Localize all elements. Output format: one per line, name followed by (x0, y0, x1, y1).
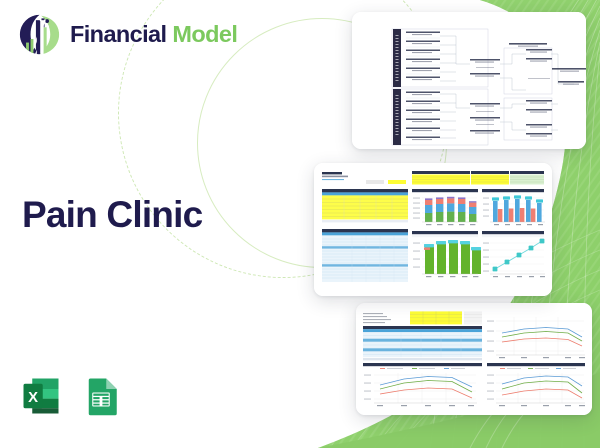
poster-canvas: Financial Model Pain Clinic X (0, 0, 600, 448)
brand-name-accent: Model (172, 21, 237, 47)
svg-text:X: X (28, 390, 38, 406)
financial-model-circle-logo (18, 13, 61, 56)
page-title: Pain Clinic (22, 195, 202, 235)
brand-name-dark: Financial (70, 21, 166, 47)
google-sheets-icon[interactable] (80, 375, 122, 417)
brand-logo: Financial Model (18, 13, 237, 56)
excel-icon[interactable]: X (20, 375, 62, 417)
projections-card[interactable] (356, 303, 592, 415)
financial-dashboard-card[interactable] (314, 163, 552, 296)
dupont-ratio-tree-card[interactable] (352, 12, 586, 149)
brand-name: Financial Model (70, 21, 237, 48)
file-format-icons: X (20, 375, 122, 417)
